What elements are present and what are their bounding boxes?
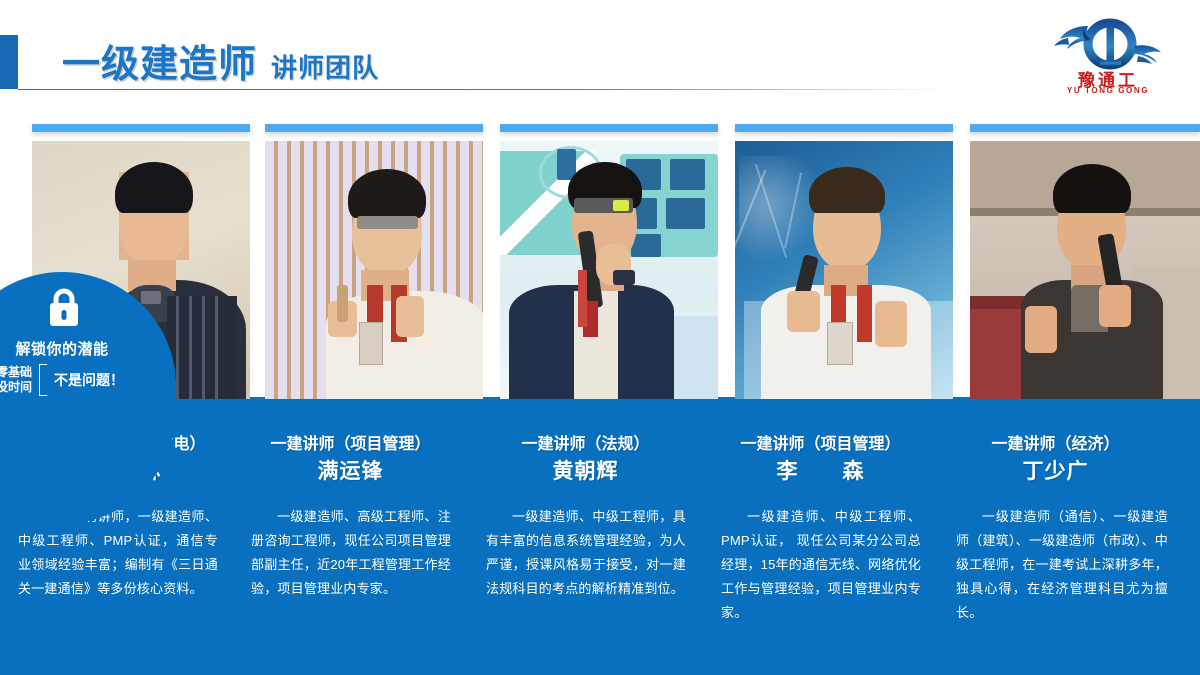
page-title-main: 一级建造师 (62, 33, 257, 88)
instructor-title: 一建讲师（经济） (938, 430, 1173, 454)
logo-name-en: YU TONG GONG (1038, 86, 1178, 95)
lock-icon (44, 286, 84, 330)
header-accent-block (0, 35, 18, 89)
instructor-bio: 一级建造师、中级工程师、 PMP认证， 现任公司某分公司总经理，15年的通信无线… (721, 505, 921, 625)
instructor-photo-li-sen (735, 141, 953, 399)
company-logo: 豫通工 YU TONG GONG (1038, 12, 1178, 102)
instructor-name: 丁少广 (938, 455, 1173, 485)
instructor-bio: 一级建造师、高级工程师、注册咨询工程师，现任公司项目管理部副主任，近20年工程管… (251, 505, 451, 601)
instructor-bio: 一级建造师、中级工程师，具有丰富的信息系统管理经验，为人严谨，授课风格易于接受，… (486, 505, 686, 601)
badge-sub-right: 不是问题！ (54, 370, 124, 390)
instructor-bio: 一级建造师（通信）、一级建造师（建筑）、一级建造师（市政）、中级工程师，在一建考… (956, 505, 1168, 625)
badge-headline: 解锁你的潜能 (0, 338, 176, 359)
card-accent-bar (500, 124, 718, 132)
badge-sub-left: 零基础 没时间 (0, 365, 32, 395)
instructor-title: 一建讲师（项目管理） (233, 430, 468, 454)
dragon-logo-mark (1038, 12, 1178, 72)
instructor-title: 一建讲师（项目管理） (703, 430, 938, 454)
badge-bracket (39, 364, 47, 396)
card-accent-bar (265, 124, 483, 132)
page-title-sub: 讲师团队 (271, 48, 379, 85)
instructor-photo-huang-chaohui (500, 141, 718, 399)
card-accent-bar (970, 124, 1200, 132)
page-title: 一级建造师 讲师团队 (62, 33, 379, 88)
badge-sub-left-line1: 零基础 (0, 365, 32, 380)
badge-sub-left-line2: 没时间 (0, 380, 32, 395)
header-divider (18, 89, 948, 90)
instructor-name: 满运锋 (233, 455, 468, 485)
card-accent-bar (32, 124, 250, 132)
slide-root: 特聘讲师（通信与广电） 陈 林 学院特聘讲师，一级建造师、中级工程师、PMP认证… (0, 0, 1200, 675)
slide-header: 一级建造师 讲师团队 (0, 0, 1200, 112)
instructor-photo-ding-shaoguang (970, 141, 1200, 399)
unlock-potential-badge: 解锁你的潜能 零基础 没时间 不是问题！ (0, 272, 176, 398)
instructor-name: 李 森 (703, 455, 938, 485)
instructor-name: 黄朝辉 (468, 455, 703, 485)
badge-subline: 零基础 没时间 不是问题！ (0, 364, 176, 396)
card-accent-bar (735, 124, 953, 132)
instructor-title: 一建讲师（法规） (468, 430, 703, 454)
instructor-photo-man-yunfeng (265, 141, 483, 399)
